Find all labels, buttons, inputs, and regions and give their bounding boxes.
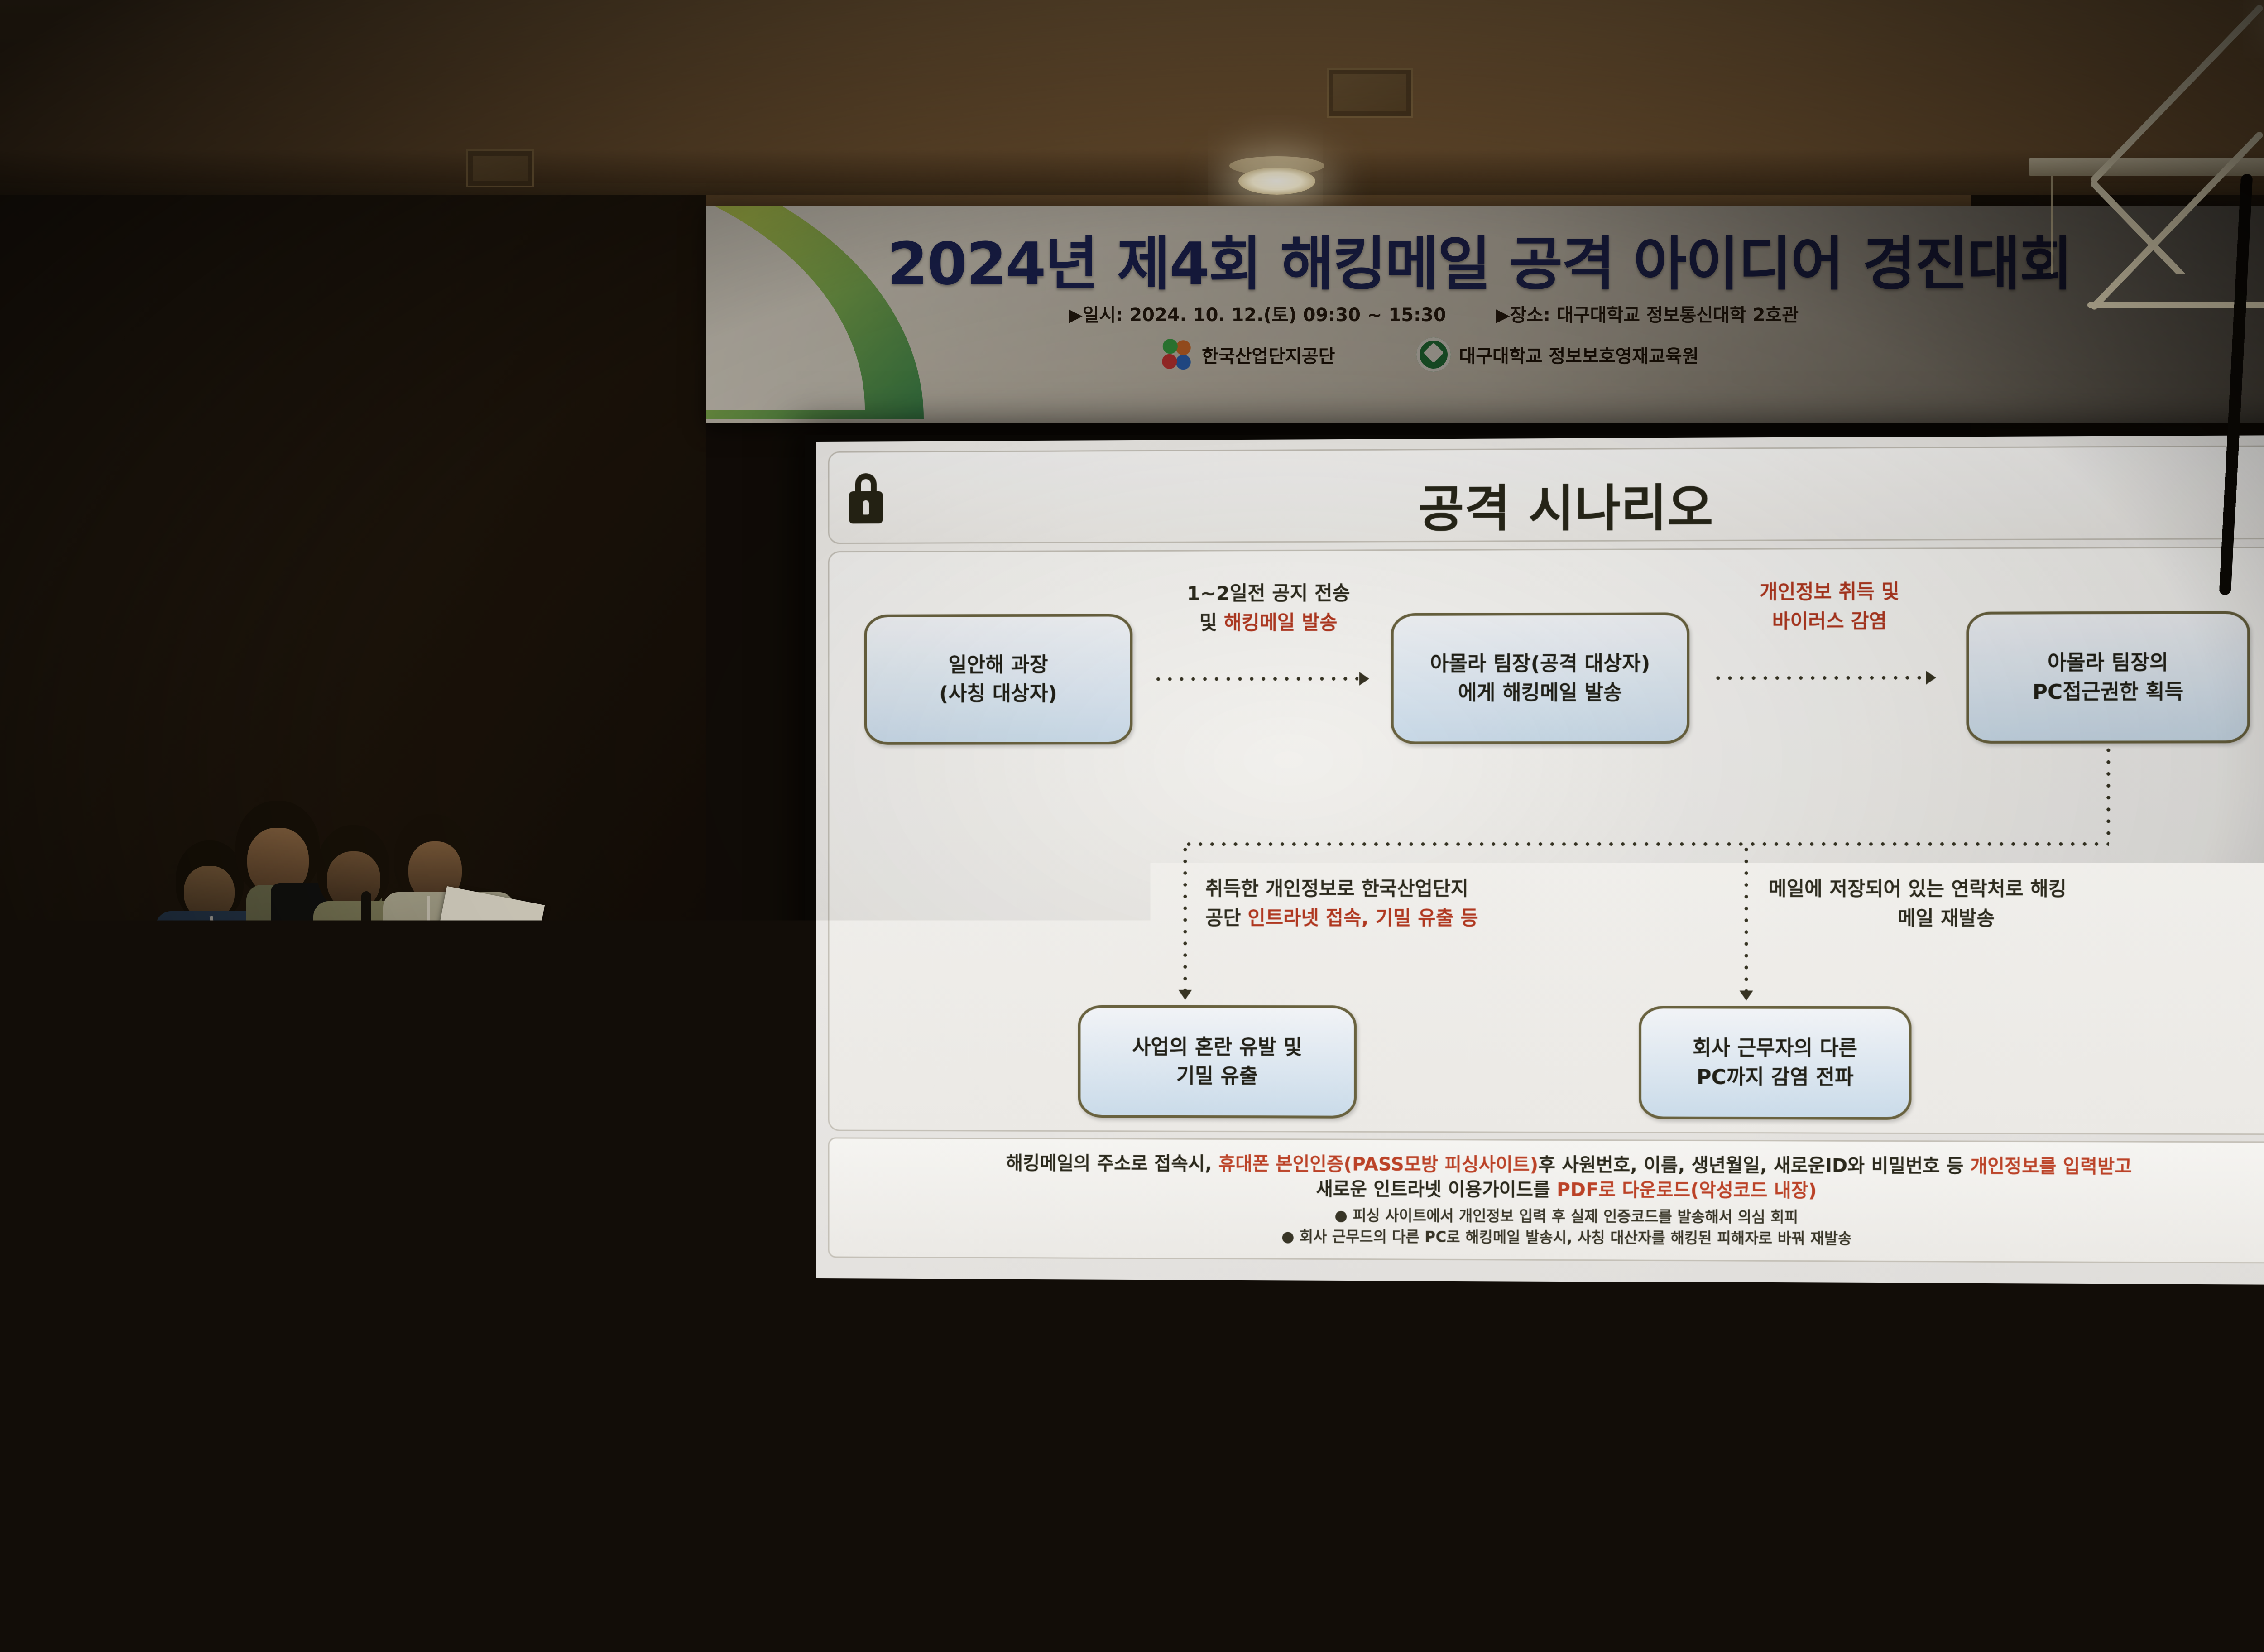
seat [1159, 1445, 1304, 1559]
flow-node-5-line1: 회사 근무자의 다른 [1693, 1034, 1857, 1063]
arrow-label-1: 1~2일전 공지 전송 및 해킹메일 발송 [1161, 579, 1377, 638]
flow-node-3-line1: 아몰라 팀장의 [2048, 648, 2168, 677]
flow-node-2-line1: 아몰라 팀장(공격 대상자) [1430, 649, 1650, 679]
seat [806, 1553, 1001, 1652]
flow-node-2: 아몰라 팀장(공격 대상자) 에게 해킹메일 발송 [1391, 612, 1690, 744]
footer-line-2: 새로운 인트라넷 이용가이드를 PDF로 다운로드(악성코드 내장) [1316, 1177, 1817, 1203]
footer-line-1: 해킹메일의 주소로 접속시, 휴대폰 본인인증(PASS모방 피싱사이트)후 사… [1006, 1151, 2132, 1180]
flow-connector-5-right-drop [1744, 844, 1749, 994]
seat [448, 1344, 561, 1430]
air-vent-icon-2 [466, 149, 534, 187]
flow-connector-3-vertical [2106, 744, 2111, 844]
arrow-label-1-line1: 1~2일전 공지 전송 [1187, 582, 1350, 605]
seat [2056, 1560, 2250, 1652]
seat [598, 1553, 792, 1652]
seat [181, 1448, 326, 1561]
flow-node-4-line2: 기밀 유출 [1176, 1061, 1258, 1090]
flow-arrowhead-3 [1179, 990, 1192, 1000]
seat [1970, 1347, 2083, 1433]
arrow-label-4-line1: 메일에 저장되어 있는 연락처로 해킹 [1769, 878, 2067, 900]
flow-node-2-line2: 에게 해킹메일 발송 [1458, 678, 1622, 707]
flow-connector-4-left-drop [1183, 844, 1187, 993]
arrow-label-4-line2: 메일 재발송 [1898, 907, 1995, 930]
presenter-group [149, 788, 512, 1322]
seat [1322, 1445, 1467, 1559]
seat [1639, 1556, 1834, 1652]
seat [833, 1445, 978, 1559]
ceiling-projector [2001, 158, 2264, 648]
arrow-label-2-line1: 개인정보 취득 및 [1760, 581, 1899, 604]
arrow-label-3-line2-red: 인트라넷 접속, 기밀 유출 등 [1247, 907, 1478, 929]
projector-support-wire-1 [2051, 176, 2053, 429]
presenter-4-paper [430, 886, 545, 994]
footer-bullet-2: ● 회사 근무드의 다른 PC로 해킹메일 발송시, 사칭 대산자를 해킹된 피… [1281, 1226, 1852, 1250]
flow-arrowhead-1 [1359, 672, 1369, 686]
flow-arrowhead-2 [1926, 671, 1936, 684]
arrow-label-3-line2-plain: 공단 [1205, 907, 1247, 929]
seat [1014, 1553, 1209, 1652]
microphone-icon [361, 891, 371, 933]
seat [670, 1445, 815, 1559]
flow-node-4: 사업의 혼란 유발 및 기밀 유출 [1078, 1005, 1357, 1118]
seat [1336, 1343, 1449, 1429]
seat [1485, 1446, 1630, 1560]
flow-node-4-line1: 사업의 혼란 유발 및 [1132, 1032, 1302, 1061]
air-vent-icon [1327, 68, 1413, 118]
arrow-label-2-line2: 바이러스 감염 [1772, 610, 1887, 633]
footer-line-1-red2: 개인정보를 입력받고 [1970, 1155, 2132, 1177]
seat [344, 1447, 489, 1561]
flow-connector-2 [1712, 676, 1925, 681]
arrow-label-2: 개인정보 취득 및 바이러스 감염 [1711, 577, 1948, 637]
seat [1431, 1554, 1626, 1652]
seat [996, 1445, 1141, 1559]
seat [2223, 1349, 2264, 1435]
footer-line-2-red: PDF로 다운로드(악성코드 내장) [1557, 1179, 1817, 1201]
seat [1648, 1447, 1793, 1561]
footer-bullet-1: ● 피싱 사이트에서 개인정보 입력 후 실제 인증코드를 발송해서 의심 회피 [1334, 1205, 1798, 1228]
footer-line-1-a: 해킹메일의 주소로 접속시, [1006, 1153, 1218, 1175]
flow-node-1-line2: (사칭 대상자) [939, 679, 1057, 708]
audience-head [851, 1272, 919, 1352]
flow-node-5: 회사 근무자의 다른 PC까지 감염 전파 [1639, 1006, 1911, 1120]
arrow-label-1-line2-red: 해킹메일 발송 [1224, 611, 1338, 634]
flow-connector-1 [1152, 677, 1358, 682]
seat [389, 1554, 584, 1652]
seat [1847, 1558, 2042, 1652]
seat [1974, 1449, 2119, 1562]
footer-line-1-b: 후 사원번호, 이름, 생년월일, 새로운ID와 비밀번호 등 [1538, 1154, 1970, 1177]
flow-node-5-line2: PC까지 감염 전파 [1696, 1063, 1853, 1092]
seat [68, 1348, 181, 1434]
arrow-label-4: 메일에 저장되어 있는 연락처로 해킹 메일 재발송 [1769, 874, 2264, 933]
auditorium-scene: 2024년 제4회 해킹메일 공격 아이디어 경진대회 ▶일시: 2024. 1… [0, 0, 2264, 1652]
presenter-3-face [327, 851, 380, 909]
seat [18, 1449, 163, 1562]
seat [2137, 1451, 2264, 1564]
flow-node-1: 일안해 과장 (사칭 대상자) [864, 614, 1132, 744]
seat [1223, 1553, 1417, 1652]
flow-node-1-line1: 일안해 과장 [948, 651, 1048, 680]
slide-footer-notes: 해킹메일의 주소로 접속시, 휴대폰 본인인증(PASS모방 피싱사이트)후 사… [828, 1137, 2264, 1263]
seat [702, 1343, 815, 1429]
seat [1082, 1343, 1195, 1429]
projector-vent-icon [2078, 534, 2120, 586]
seat [507, 1446, 652, 1560]
seat [181, 1556, 376, 1652]
daegu-university-seal-icon [62, 1139, 115, 1191]
seat [0, 1558, 168, 1652]
arrow-label-3-line1: 취득한 개인정보로 한국산업단지 [1205, 878, 1468, 900]
footer-line-2-a: 새로운 인트라넷 이용가이드를 [1316, 1178, 1557, 1201]
seat [1811, 1448, 1956, 1561]
footer-line-1-red1: 휴대폰 본인인증(PASS모방 피싱사이트) [1218, 1153, 1539, 1176]
arrow-label-1-line2-plain: 및 [1199, 611, 1224, 634]
presenter-4-lanyard [427, 896, 430, 968]
flow-node-3-line2: PC접근권한 획득 [2033, 677, 2184, 706]
audience-area [0, 1259, 2264, 1652]
ceiling-light-icon [1238, 168, 1315, 195]
flow-connector-3-horizontal [1183, 842, 2109, 846]
flow-arrowhead-4 [1740, 991, 1753, 1001]
arrow-label-3: 취득한 개인정보로 한국산업단지 공단 인트라넷 접속, 기밀 유출 등 [1205, 874, 1702, 933]
